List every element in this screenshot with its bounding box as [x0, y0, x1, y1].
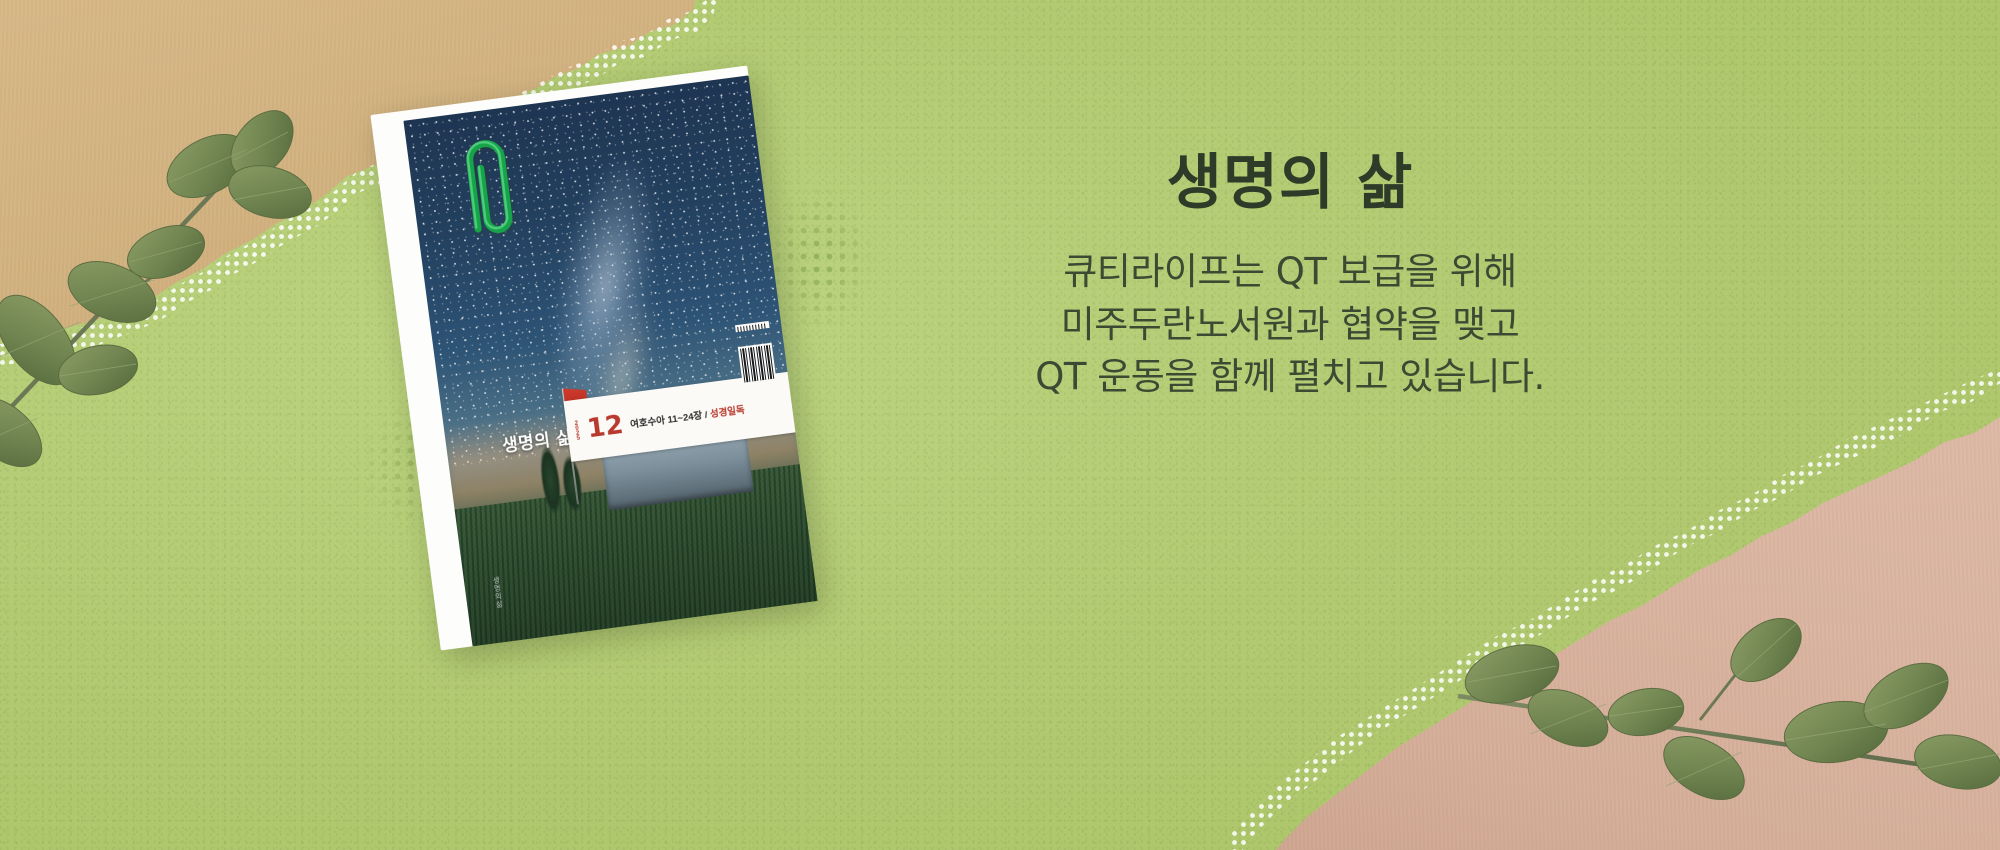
scripture-reference: 여호수아 11~24장 / 성경일독	[629, 402, 745, 431]
promo-description: 큐티라이프는 QT 보급을 위해 미주두란노서원과 협약을 맺고 QT 운동을 …	[700, 246, 1880, 404]
promo-copy: 생명의 삶 큐티라이프는 QT 보급을 위해 미주두란노서원과 협약을 맺고 Q…	[700, 150, 1880, 404]
description-line: QT 운동을 함께 펼치고 있습니다.	[700, 351, 1880, 404]
issue-year: 2025	[573, 420, 582, 441]
description-line: 미주두란노서원과 협약을 맺고	[700, 299, 1880, 352]
issue-month: 12	[586, 412, 625, 443]
scripture-range: 여호수아 11~24장 /	[630, 410, 709, 431]
description-line: 큐티라이프는 QT 보급을 위해	[700, 246, 1880, 299]
scripture-tag: 성경일독	[709, 405, 745, 420]
page-title: 생명의 삶	[700, 150, 1880, 216]
promo-banner: 생명의 삶20 2025 12 여호수아 11~24장 / 성경일독 생명의삶 …	[0, 0, 2000, 850]
paperclip-icon	[443, 128, 526, 246]
